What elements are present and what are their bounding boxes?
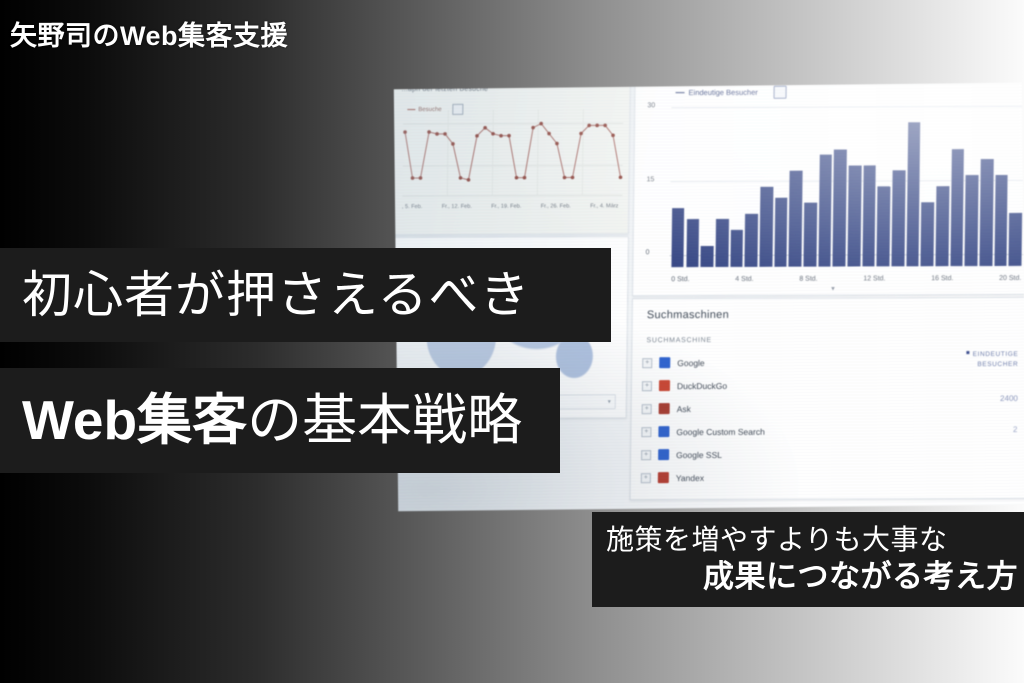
page-title-line2-strong: Web集客 <box>22 389 247 451</box>
search-engine-row[interactable]: +DuckDuckGo <box>642 373 908 397</box>
bar <box>833 149 847 266</box>
bullet-icon <box>967 351 970 354</box>
duckduckgo-favicon <box>659 380 670 391</box>
thumbnail-canvas: ...aph der letzten Besuche Besuche <box>0 0 1024 683</box>
caption-line1: 施策を増やすよりも大事な <box>606 523 947 557</box>
collapse-chevron-icon[interactable]: ▾ <box>831 285 835 293</box>
xlabel: Fr., 26. Feb. <box>541 203 571 209</box>
metric-label-line2: BESUCHER <box>966 360 1018 370</box>
bar <box>745 214 758 267</box>
expand-icon[interactable]: + <box>641 427 651 437</box>
yandex-favicon <box>658 472 669 483</box>
unique-visitors-metric: EINDEUTIGE BESUCHER 2400 2 <box>966 350 1019 434</box>
ask-favicon <box>659 403 670 414</box>
bar <box>965 175 979 266</box>
line-chart-panel: ...aph der letzten Besuche Besuche <box>394 83 631 235</box>
xlabel: Fr., 12. Feb. <box>442 204 472 210</box>
bar <box>892 170 906 266</box>
page-title-line2: Web集客の基本戦略 <box>22 393 522 448</box>
xlabel: Fr., 4. März <box>590 203 618 209</box>
bar <box>906 122 920 266</box>
ytick-30: 30 <box>647 102 655 109</box>
title-plate-line1: 初心者が押さえるべき <box>0 248 611 342</box>
metric-label-line1: EINDEUTIGE <box>973 351 1019 358</box>
brand-title: 矢野司のWeb集客支援 <box>10 14 288 53</box>
xlabel: 16 Std. <box>931 275 953 282</box>
bar <box>701 246 714 267</box>
expand-icon[interactable]: + <box>642 358 652 368</box>
metric-label: EINDEUTIGE <box>967 350 1019 360</box>
chart-toggle-icon[interactable] <box>774 86 787 99</box>
search-engine-name: Yandex <box>676 472 704 482</box>
search-engine-name: DuckDuckGo <box>677 380 727 390</box>
search-engines-heading: Suchmaschinen <box>647 309 729 321</box>
expand-icon[interactable]: + <box>641 450 651 460</box>
metric-value-2: 2 <box>966 424 1018 433</box>
search-engines-list: +Google+DuckDuckGo+Ask+Google Custom Sea… <box>641 350 909 489</box>
bar-chart-xlabels: 0 Std. 4 Std. 8 Std. 12 Std. 16 Std. 20 … <box>671 275 1021 283</box>
bar <box>671 208 684 267</box>
caption-plate: 施策を増やすよりも大事な 成果につながる考え方 <box>592 512 1024 607</box>
bar <box>774 197 787 266</box>
line-chart-xlabels: , 5. Feb. Fr., 12. Feb. Fr., 19. Feb. Fr… <box>394 203 628 210</box>
search-engines-column-label: SUCHMASCHINE <box>646 337 711 344</box>
xlabel: 4 Std. <box>735 276 753 283</box>
xlabel: 0 Std. <box>671 276 689 283</box>
ytick-15: 15 <box>646 176 654 183</box>
bar <box>921 202 934 266</box>
line-chart-title: ...aph der letzten Besuche <box>402 86 489 93</box>
search-engine-name: Google <box>677 357 705 367</box>
legend-label: Eindeutige Besucher <box>689 88 758 97</box>
xlabel: Fr., 19. Feb. <box>491 204 521 210</box>
google-favicon <box>658 426 669 437</box>
bar <box>862 165 876 266</box>
bar <box>950 149 964 266</box>
expand-icon[interactable]: + <box>642 381 652 391</box>
bar <box>818 155 832 267</box>
metric-value-1: 2400 <box>966 393 1018 402</box>
legend-dash-icon <box>676 92 685 94</box>
page-title-line1: 初心者が押さえるべき <box>22 270 531 320</box>
bar <box>1009 213 1022 266</box>
caption-line2: 成果につながる考え方 <box>703 559 1024 596</box>
search-engine-name: Ask <box>677 404 691 414</box>
bar <box>686 219 699 267</box>
xlabel: 20 Std. <box>999 275 1021 282</box>
bar <box>994 175 1008 266</box>
expand-icon[interactable]: + <box>641 473 651 483</box>
chevron-down-icon: ▾ <box>608 398 611 405</box>
bar <box>980 159 994 266</box>
google-favicon <box>659 357 670 368</box>
bar-chart-legend: Eindeutige Besucher <box>675 86 786 99</box>
bar-chart-panel: Eindeutige Besucher 30 15 0 0 Std. 4 Std… <box>632 83 1024 297</box>
bar <box>759 187 772 267</box>
expand-icon[interactable]: + <box>642 404 652 414</box>
search-engine-row[interactable]: +Google SSL <box>641 442 907 466</box>
search-engine-name: Google SSL <box>676 449 722 459</box>
google-favicon <box>658 449 669 460</box>
bar <box>789 171 803 267</box>
search-engine-row[interactable]: +Google Custom Search <box>641 419 907 443</box>
bar <box>803 203 816 267</box>
title-plate-line2: Web集客の基本戦略 <box>0 368 560 473</box>
search-engine-row[interactable]: +Ask <box>642 396 908 420</box>
xlabel: , 5. Feb. <box>402 204 423 210</box>
ytick-0: 0 <box>646 249 650 256</box>
xlabel: 8 Std. <box>799 276 817 283</box>
bar <box>848 165 862 266</box>
bar <box>715 219 728 267</box>
xlabel: 12 Std. <box>863 275 885 282</box>
bar-chart-plot <box>671 106 1023 267</box>
line-chart-svg <box>394 95 630 208</box>
search-engines-panel: Suchmaschinen SUCHMASCHINE +Google+DuckD… <box>630 297 1024 500</box>
search-engine-row[interactable]: +Yandex <box>641 465 907 489</box>
bar <box>730 230 743 267</box>
search-engine-name: Google Custom Search <box>676 426 764 436</box>
page-title-line2-light: の基本戦略 <box>247 389 522 451</box>
bar <box>877 186 890 266</box>
bar <box>936 186 949 266</box>
search-engine-row[interactable]: +Google <box>642 350 908 374</box>
